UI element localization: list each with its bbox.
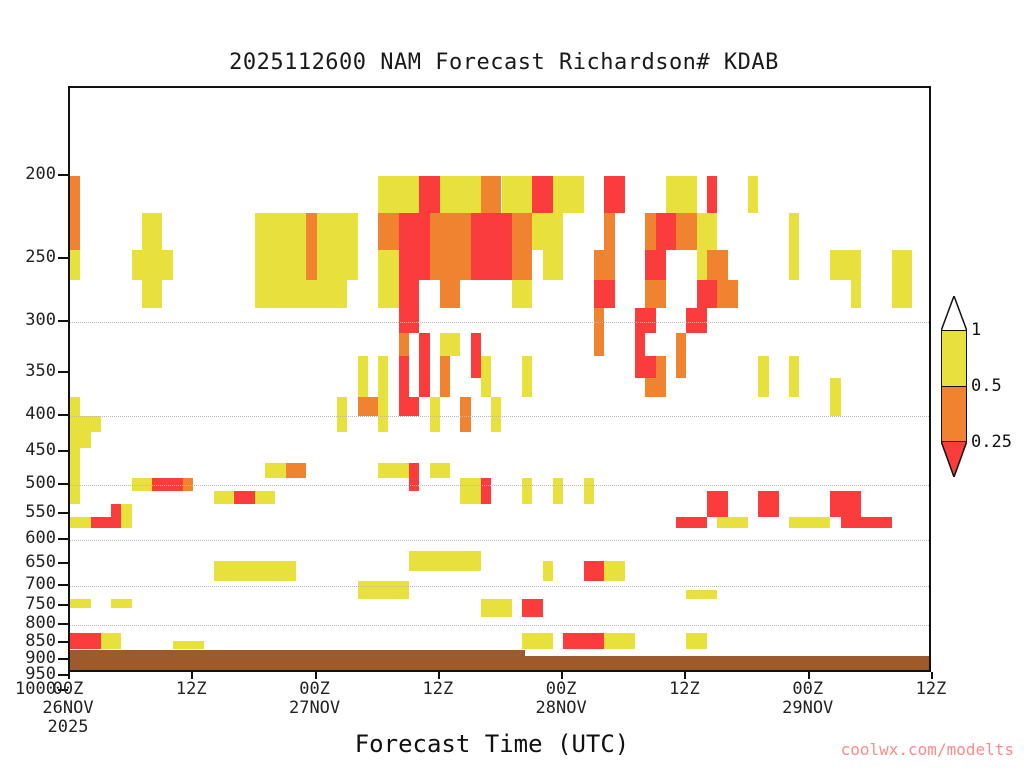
y-tick-label: 250 xyxy=(0,247,56,267)
heatmap-cell xyxy=(358,356,368,397)
colorbar-label-0.5: 0.5 xyxy=(971,376,1002,396)
gridline xyxy=(70,416,929,417)
heatmap-cell xyxy=(419,463,429,491)
heatmap-cell xyxy=(132,250,142,280)
heatmap-cell xyxy=(121,517,131,529)
heatmap-cell xyxy=(70,176,80,250)
heatmap-cell xyxy=(717,280,738,308)
heatmap-cell xyxy=(841,517,892,529)
heatmap-cell xyxy=(553,478,563,505)
heatmap-cell xyxy=(522,356,532,397)
watermark: coolwx.com/modelts xyxy=(841,740,1014,759)
heatmap-cell xyxy=(306,213,316,280)
y-tick-mark xyxy=(58,414,68,416)
heatmap-cell xyxy=(522,633,553,649)
colorbar-body xyxy=(941,330,967,442)
gridline xyxy=(70,485,929,486)
heatmap-cell xyxy=(594,280,615,308)
heatmap-cell xyxy=(707,491,728,516)
heatmap-cell xyxy=(430,463,451,478)
heatmap-cell xyxy=(255,280,286,308)
heatmap-cell xyxy=(440,176,481,213)
heatmap-cell xyxy=(491,397,501,432)
y-tick-label: 700 xyxy=(0,574,56,594)
colorbar-segment-orange xyxy=(942,386,966,441)
x-tick-mark xyxy=(808,672,810,679)
heatmap-cell xyxy=(91,517,122,529)
heatmap-cell xyxy=(409,551,430,572)
x-tick-mark xyxy=(315,672,317,679)
heatmap-cell xyxy=(635,356,656,378)
heatmap-cell xyxy=(861,491,892,516)
heatmap-cell xyxy=(584,478,594,505)
heatmap-cell xyxy=(481,176,502,213)
y-tick-mark xyxy=(58,562,68,564)
colorbar-bottom-arrow xyxy=(941,441,967,477)
y-tick-label: 200 xyxy=(0,164,56,184)
heatmap-cell xyxy=(460,551,481,572)
heatmap-cell xyxy=(789,213,799,280)
y-tick-mark xyxy=(58,604,68,606)
heatmap-cell xyxy=(378,176,419,213)
heatmap-cell xyxy=(676,517,707,529)
heatmap-cell xyxy=(604,633,635,649)
heatmap-cell xyxy=(70,671,931,672)
x-tick-label: 00Z 26NOV 2025 xyxy=(42,680,93,737)
heatmap-cell xyxy=(173,641,204,649)
heatmap-cell xyxy=(378,463,409,478)
heatmap-cell xyxy=(70,397,80,432)
y-tick-mark xyxy=(58,512,68,514)
y-tick-label: 800 xyxy=(0,613,56,633)
heatmap-cell xyxy=(378,280,399,308)
heatmap-cell xyxy=(656,213,677,250)
heatmap-cell xyxy=(532,176,553,213)
x-tick-label: 00Z 27NOV xyxy=(289,680,340,718)
heatmap-cells xyxy=(70,88,929,670)
x-tick-mark xyxy=(68,672,70,679)
chart-title: 2025112600 NAM Forecast Richardson# KDAB xyxy=(0,50,1016,75)
heatmap-cell xyxy=(512,280,533,308)
heatmap-cell xyxy=(419,333,429,397)
heatmap-cell xyxy=(358,581,379,599)
colorbar-label-0.25: 0.25 xyxy=(971,432,1012,452)
x-tick-mark xyxy=(931,672,933,679)
heatmap-cell xyxy=(70,599,91,608)
heatmap-cell xyxy=(892,250,913,308)
heatmap-cell xyxy=(594,308,604,356)
heatmap-cell xyxy=(748,176,758,213)
heatmap-cell xyxy=(80,416,101,432)
y-tick-mark xyxy=(58,450,68,452)
heatmap-cell xyxy=(142,280,163,308)
y-tick-mark xyxy=(58,174,68,176)
heatmap-cell xyxy=(162,250,172,280)
heatmap-cell xyxy=(440,333,461,356)
y-tick-label: 350 xyxy=(0,361,56,381)
heatmap-cell xyxy=(707,176,717,213)
heatmap-cell xyxy=(101,633,122,649)
heatmap-cell xyxy=(604,333,625,356)
heatmap-cell xyxy=(717,517,748,529)
heatmap-cell xyxy=(399,280,420,333)
heatmap-cell xyxy=(635,308,656,333)
heatmap-cell xyxy=(604,561,625,581)
y-tick-mark xyxy=(58,674,68,676)
heatmap-cell xyxy=(471,280,492,333)
gridline xyxy=(70,322,929,323)
heatmap-cell xyxy=(512,250,533,280)
x-tick-mark xyxy=(561,672,563,679)
y-tick-label: 750 xyxy=(0,594,56,614)
heatmap-cell xyxy=(543,250,564,280)
heatmap-cell xyxy=(471,333,481,377)
heatmap-cell xyxy=(645,250,666,280)
heatmap-cell xyxy=(892,491,931,516)
heatmap-cell xyxy=(460,397,470,432)
heatmap-cell xyxy=(255,213,306,280)
colorbar-label-1: 1 xyxy=(971,320,981,340)
heatmap-cell xyxy=(697,280,718,308)
heatmap-cell xyxy=(70,432,80,478)
x-tick-label: 00Z 28NOV xyxy=(536,680,587,718)
y-tick-label: 450 xyxy=(0,440,56,460)
heatmap-cell xyxy=(399,356,409,397)
x-tick-mark xyxy=(438,672,440,679)
heatmap-cell xyxy=(789,356,799,397)
heatmap-cell xyxy=(686,308,707,333)
heatmap-cell xyxy=(152,213,162,250)
y-tick-label: 600 xyxy=(0,528,56,548)
heatmap-cell xyxy=(440,356,450,397)
heatmap-cell xyxy=(676,333,686,377)
y-tick-label: 650 xyxy=(0,552,56,572)
heatmap-cell xyxy=(481,356,491,397)
colorbar: 1 0.5 0.25 xyxy=(941,296,967,476)
x-tick-mark xyxy=(191,672,193,679)
heatmap-cell xyxy=(440,280,461,308)
heatmap-cell xyxy=(625,176,646,213)
y-tick-label: 500 xyxy=(0,473,56,493)
heatmap-cell xyxy=(666,176,697,213)
x-tick-label: 00Z 29NOV xyxy=(782,680,833,718)
heatmap-cell xyxy=(563,633,604,649)
heatmap-cell xyxy=(604,176,625,213)
x-tick-label: 12Z xyxy=(916,680,947,699)
heatmap-cell xyxy=(460,478,481,505)
heatmap-cell xyxy=(142,250,163,280)
y-tick-mark xyxy=(58,658,68,660)
heatmap-cell xyxy=(399,397,420,416)
y-tick-mark xyxy=(58,257,68,259)
heatmap-cell xyxy=(317,213,358,280)
heatmap-cell xyxy=(615,356,625,397)
x-tick-label: 12Z xyxy=(176,680,207,699)
heatmap-cell xyxy=(430,397,440,432)
heatmap-cell xyxy=(656,308,687,333)
y-tick-mark xyxy=(58,623,68,625)
heatmap-cell xyxy=(676,213,697,250)
heatmap-cell xyxy=(337,397,347,432)
heatmap-cell xyxy=(789,491,830,516)
heatmap-cell xyxy=(851,250,861,308)
heatmap-cell xyxy=(676,491,707,516)
y-tick-label: 550 xyxy=(0,502,56,522)
heatmap-cell xyxy=(378,581,409,599)
heatmap-cell xyxy=(378,250,399,280)
heatmap-cell xyxy=(522,599,543,616)
heatmap-cell xyxy=(419,280,440,333)
x-tick-label: 12Z xyxy=(669,680,700,699)
heatmap-cell xyxy=(70,633,101,649)
heatmap-cell xyxy=(830,491,861,516)
heatmap-cell xyxy=(214,491,235,504)
heatmap-cell xyxy=(399,213,430,280)
heatmap-cell xyxy=(409,463,419,491)
gridline xyxy=(70,540,929,541)
heatmap-cell xyxy=(625,378,646,397)
gridline xyxy=(70,625,929,626)
heatmap-cell xyxy=(686,590,717,599)
heatmap-cell xyxy=(830,250,851,280)
heatmap-cell xyxy=(214,561,265,581)
heatmap-cell xyxy=(532,213,563,250)
heatmap-cell xyxy=(70,250,80,280)
heatmap-cell xyxy=(286,463,307,478)
heatmap-cell xyxy=(358,397,379,416)
heatmap-cell xyxy=(686,633,707,649)
heatmap-cell xyxy=(265,561,296,581)
y-tick-mark xyxy=(58,371,68,373)
heatmap-cell xyxy=(789,517,830,529)
heatmap-cell xyxy=(111,599,132,608)
heatmap-cell xyxy=(255,491,276,504)
heatmap-cell xyxy=(378,397,388,432)
plot-area xyxy=(68,86,931,672)
y-tick-label: 400 xyxy=(0,404,56,424)
heatmap-cell xyxy=(758,356,768,397)
colorbar-top-arrow xyxy=(941,296,967,331)
y-tick-mark xyxy=(58,584,68,586)
y-tick-mark xyxy=(58,320,68,322)
heatmap-cell xyxy=(502,176,533,213)
heatmap-cell xyxy=(728,491,759,516)
heatmap-cell xyxy=(522,478,532,505)
terrain-step xyxy=(70,650,525,670)
y-tick-label: 300 xyxy=(0,310,56,330)
heatmap-cell xyxy=(70,478,80,505)
gridline xyxy=(70,586,929,587)
heatmap-cell xyxy=(656,333,677,356)
x-tick-mark xyxy=(684,672,686,679)
heatmap-cell xyxy=(553,176,584,213)
heatmap-cell xyxy=(584,561,605,581)
x-tick-label: 12Z xyxy=(422,680,453,699)
heatmap-cell xyxy=(543,561,553,581)
heatmap-cell xyxy=(645,378,666,397)
heatmap-cell xyxy=(481,599,512,616)
y-tick-mark xyxy=(58,483,68,485)
heatmap-cell xyxy=(830,378,840,416)
heatmap-cell xyxy=(892,517,931,529)
heatmap-cell xyxy=(430,551,461,572)
heatmap-cell xyxy=(604,213,614,280)
heatmap-cell xyxy=(645,280,666,308)
heatmap-cell xyxy=(286,280,327,308)
heatmap-cell xyxy=(758,491,779,516)
heatmap-cell xyxy=(327,280,348,308)
heatmap-cell xyxy=(234,491,255,504)
y-tick-mark xyxy=(58,538,68,540)
heatmap-cell xyxy=(419,176,440,213)
heatmap-cell xyxy=(80,432,90,448)
heatmap-cell xyxy=(471,250,512,280)
heatmap-cell xyxy=(378,213,399,250)
colorbar-segment-yellow xyxy=(942,331,966,386)
y-tick-mark xyxy=(58,641,68,643)
heatmap-cell xyxy=(481,478,491,505)
